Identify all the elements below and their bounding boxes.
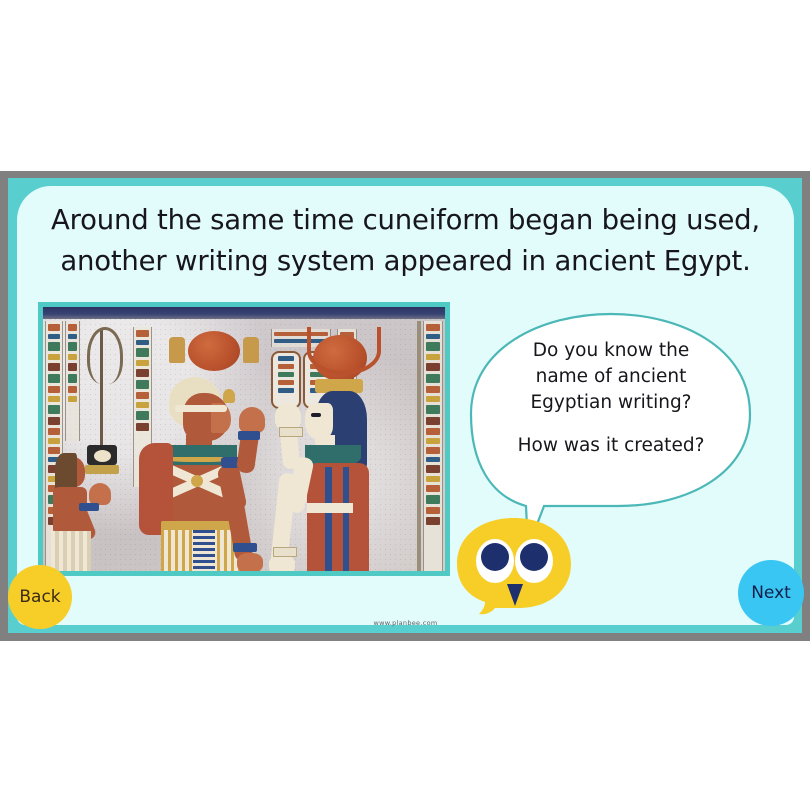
pharaoh-wristband [238, 431, 260, 440]
egyptian-artwork-frame [38, 302, 450, 576]
owl-eye-right-pupil [520, 543, 548, 571]
speech-bubble: Do you know the name of ancient Egyptian… [466, 310, 756, 550]
speech-question-1: Do you know the name of ancient Egyptian… [486, 338, 736, 416]
goddess-dress-sash [307, 503, 353, 513]
goddess-dress-stripe-2 [343, 467, 349, 571]
goddess-cow-horns [307, 327, 381, 375]
next-button[interactable]: Next [738, 560, 804, 626]
cartouche-left [271, 351, 301, 409]
pharaoh-lower-wristband [233, 543, 257, 552]
speech-bubble-text: Do you know the name of ancient Egyptian… [486, 338, 736, 459]
goddess-lower-hand [269, 555, 295, 571]
owl-eye-left-pupil [481, 543, 509, 571]
pharaoh-raised-hand [239, 407, 265, 433]
necklace-disc [94, 450, 111, 462]
pharaoh-sash-clasp [191, 475, 203, 487]
sun-disc-centre [188, 331, 240, 371]
uraeus-right [243, 337, 259, 363]
goddess-raised-hand [275, 403, 301, 429]
attendant-wristband [79, 503, 99, 511]
hieroglyph-column-right [423, 321, 443, 571]
necklace-base [85, 465, 119, 474]
right-border-divider [417, 321, 421, 571]
watermark: www.planbee.com [17, 619, 794, 627]
slide-stage: Around the same time cuneiform began bei… [0, 0, 810, 810]
egyptian-artwork-image [43, 307, 445, 571]
goddess-eye [311, 413, 321, 417]
attendant-hand [89, 483, 111, 505]
goddess-dress-stripe-1 [325, 467, 332, 571]
page-title: Around the same time cuneiform began bei… [17, 200, 794, 282]
pharaoh-kilt-apron [193, 529, 215, 571]
goddess-wristband-lower [273, 547, 297, 557]
goddess-face [305, 403, 333, 439]
pharaoh-lower-hand [237, 553, 263, 571]
owl-mascot [455, 516, 573, 616]
hieroglyph-column-left-inner [65, 321, 80, 441]
mural-top-band [43, 307, 445, 319]
necklace-loop [87, 327, 123, 384]
pharaoh-uraeus-cobra [223, 389, 235, 403]
uraeus-left [169, 337, 185, 363]
goddess-wristband-upper [279, 427, 303, 437]
pharaoh-headband [175, 405, 227, 412]
goddess-dress [307, 463, 369, 571]
attendant-garment [51, 531, 91, 571]
speech-question-2: How was it created? [486, 433, 736, 459]
